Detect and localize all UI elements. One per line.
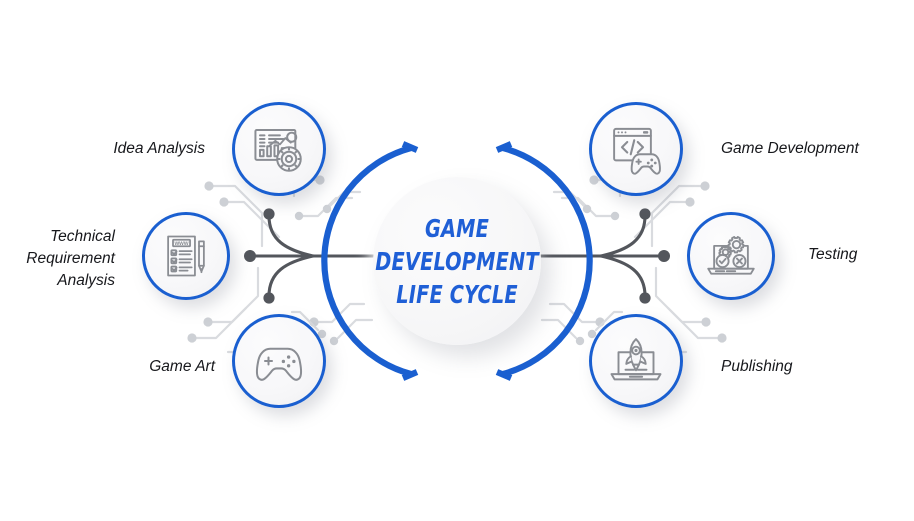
hub-connector-left: [244, 208, 373, 303]
node-technical-requirement-analysis[interactable]: www: [142, 212, 230, 300]
node-idea-analysis[interactable]: [232, 102, 326, 196]
node-testing[interactable]: [687, 212, 775, 300]
center-hub: GAME DEVELOPMENT LIFE CYCLE: [373, 177, 541, 345]
checklist-document-pencil-icon: www: [160, 230, 212, 282]
label-testing: Testing: [808, 244, 908, 266]
laptop-gear-check-cross-icon: [704, 229, 758, 283]
label-game-development: Game Development: [721, 138, 911, 160]
infographic-canvas: .lw{fill:none;stroke:#d9dbdf;stroke-widt…: [0, 0, 914, 521]
svg-text:www: www: [174, 241, 189, 247]
label-publishing: Publishing: [721, 356, 881, 378]
laptop-rocket-launch-icon: [608, 333, 664, 389]
node-game-development[interactable]: [589, 102, 683, 196]
page-title: GAME DEVELOPMENT LIFE CYCLE: [375, 212, 538, 311]
hub-connector-right: [541, 208, 670, 303]
label-technical-requirement-analysis: Technical Requirement Analysis: [10, 226, 115, 292]
node-game-art[interactable]: [232, 314, 326, 408]
label-game-art: Game Art: [55, 356, 215, 378]
label-idea-analysis: Idea Analysis: [40, 138, 205, 160]
gamepad-icon: [251, 333, 307, 389]
node-publishing[interactable]: [589, 314, 683, 408]
code-window-gamepad-icon: [608, 121, 664, 177]
analytics-board-icon: [250, 120, 308, 178]
